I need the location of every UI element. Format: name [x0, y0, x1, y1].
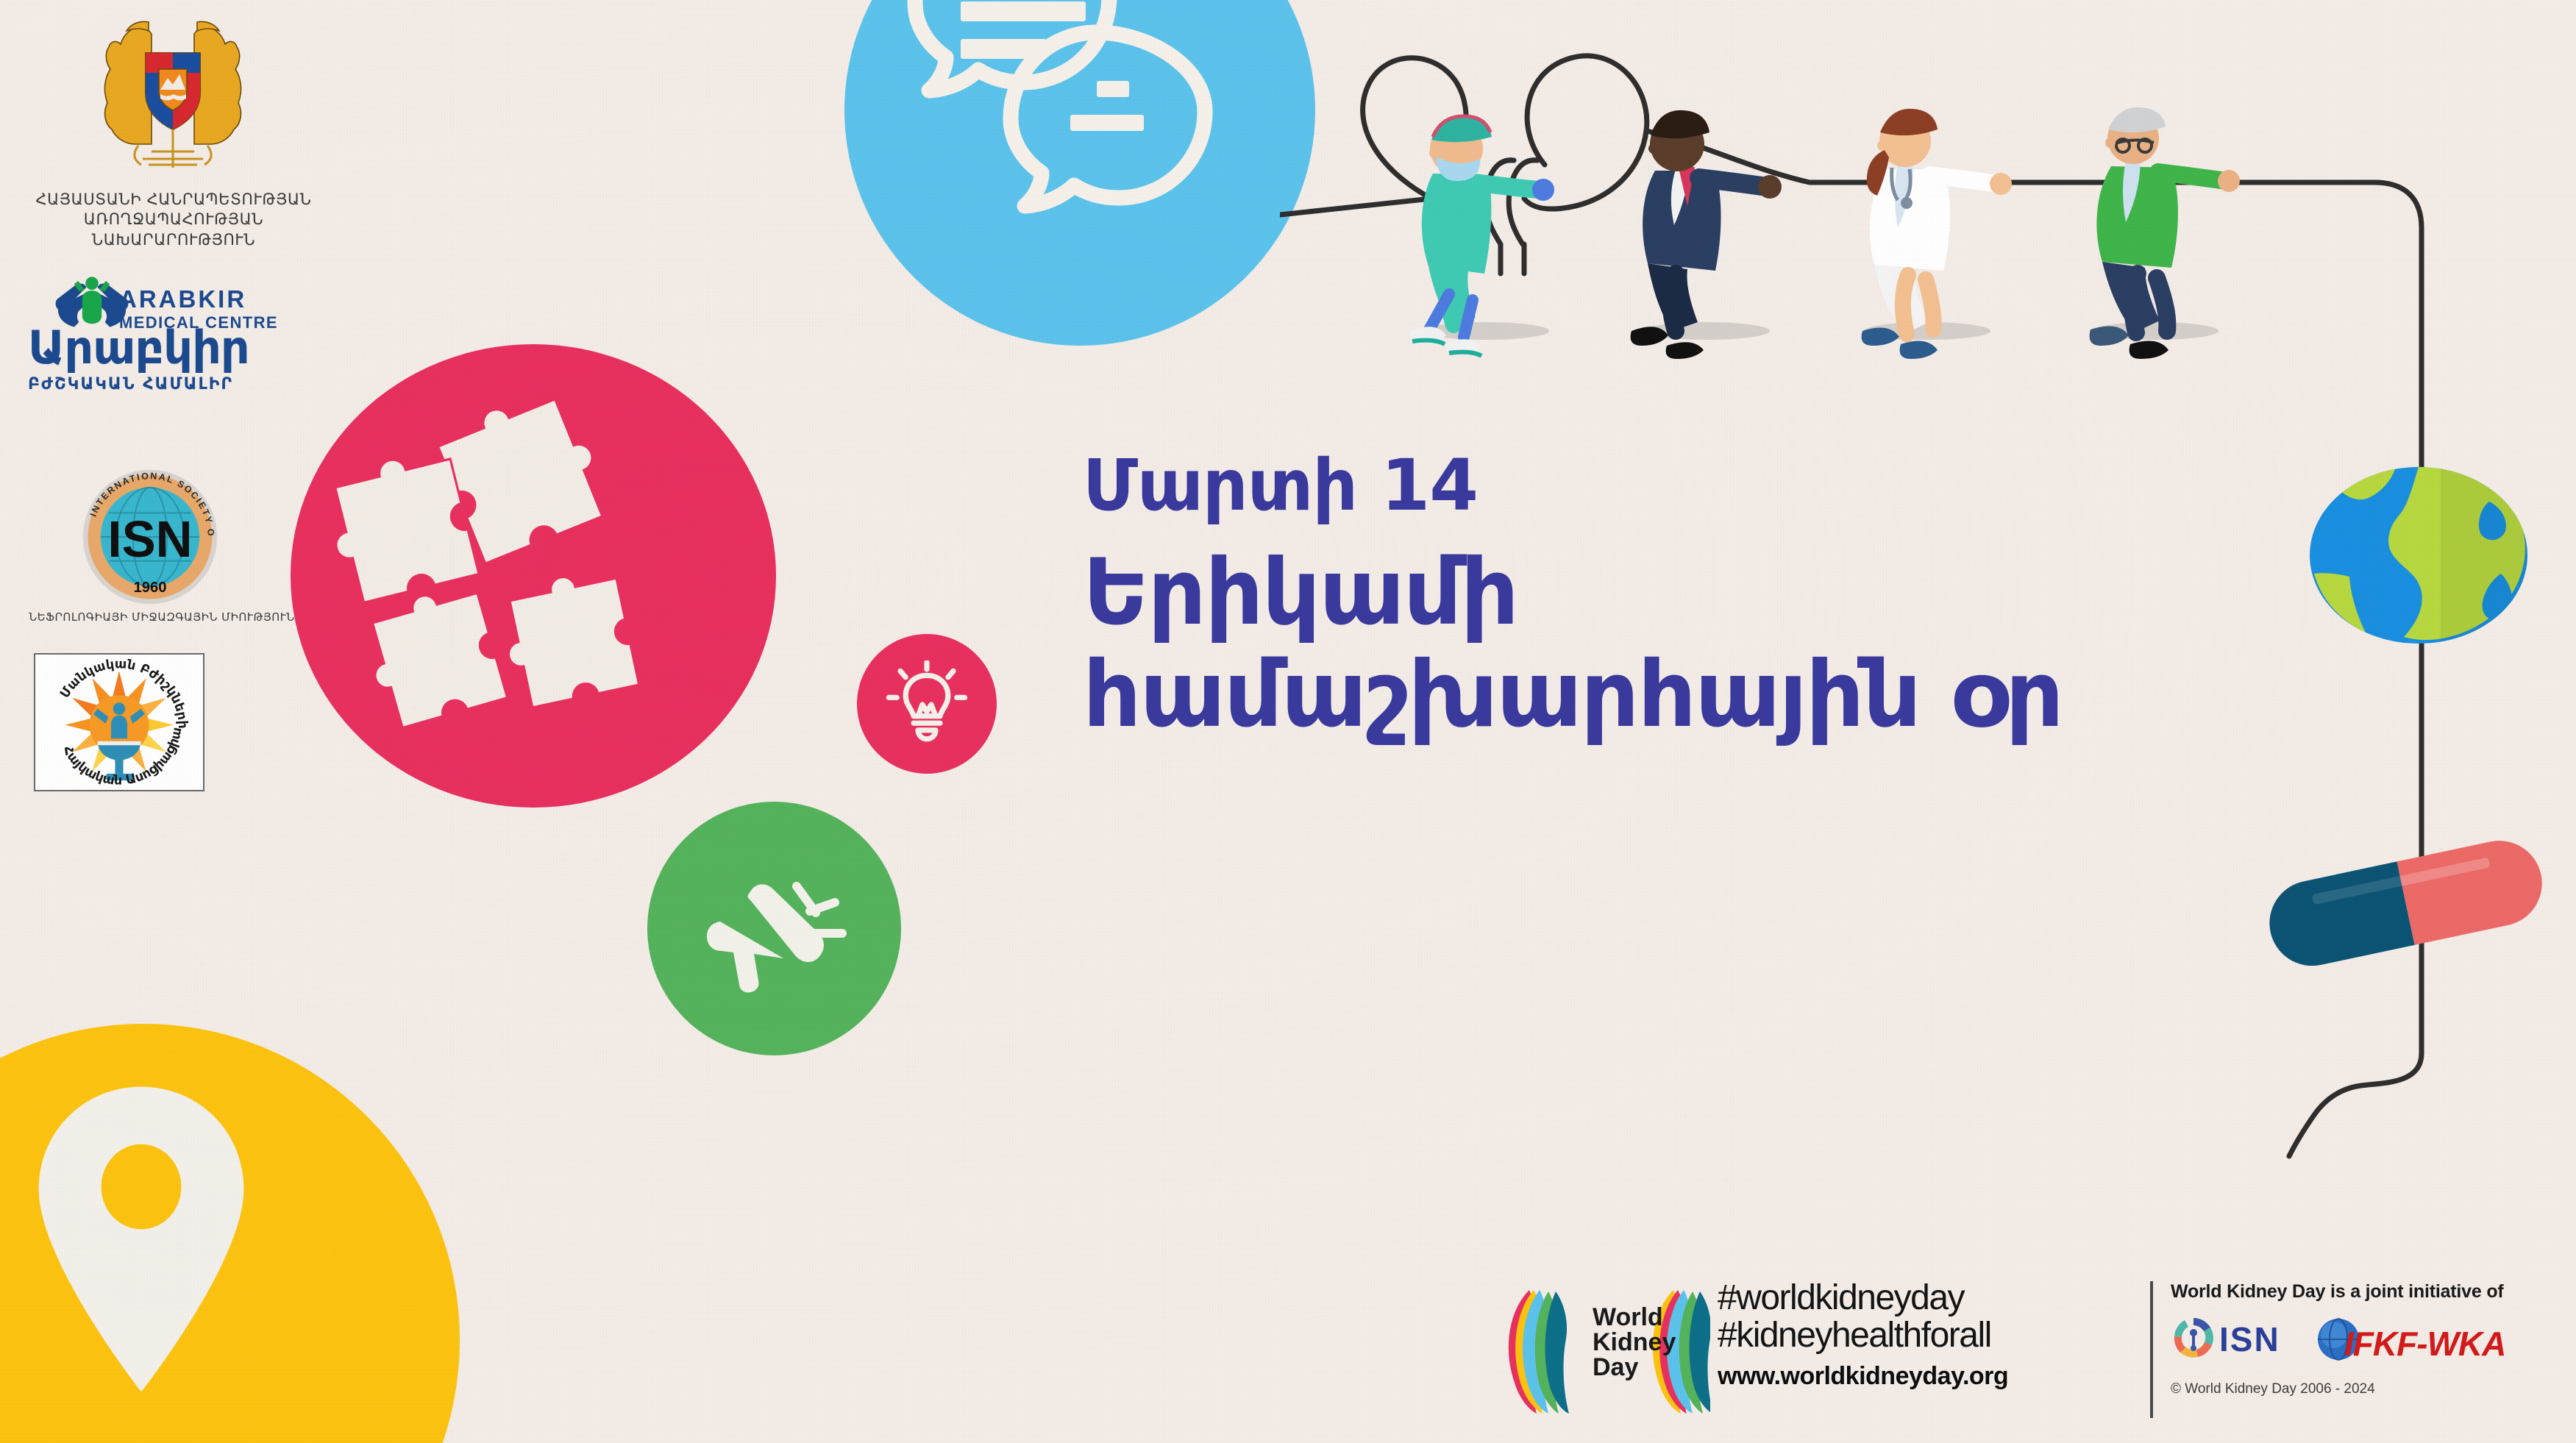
isn-caption-hy: ՆԵՖՐՈԼՈԳԻԱՅԻ ՄԻՋԱԶԳԱՅԻՆ ՄԻՈՒԹՅՈՒՆ [15, 610, 309, 624]
world-kidney-day-footer: World Kidney Day #worldkidneyday #kidney… [1497, 1271, 2563, 1431]
arabkir-logo: ARABKIR MEDICAL CENTRE Արաբկիր ԲԺՇԿԱԿԱՆ … [15, 278, 309, 410]
isn-logo: ISN INTERNATIONAL SOCIETY OF NEPHROLOGY … [15, 469, 309, 638]
lightbulb-icon [883, 660, 971, 749]
page-title: Մարտի 14 Երիկամի համաշխարհային օր [1083, 450, 2333, 746]
headline-date: Մարտի 14 [1083, 450, 2333, 522]
isn-globe-icon: ISN INTERNATIONAL SOCIETY OF NEPHROLOGY … [79, 466, 221, 608]
arabkir-name-en: ARABKIR [119, 285, 246, 313]
world-kidney-day-taglines: #worldkidneyday #kidneyhealthforall www.… [1718, 1280, 2008, 1391]
armenia-coat-of-arms-icon [81, 7, 265, 184]
isn-acronym: ISN [107, 510, 192, 568]
joint-initiative-block: World Kidney Day is a joint initiative o… [2171, 1281, 2568, 1303]
pediatric-sun-icon: Մանկական Բժիշկների Հայկական Ասոցիացիա [35, 655, 203, 790]
person-doctor [1862, 109, 2012, 359]
isn-partner-icon [2171, 1315, 2216, 1361]
wkd-word-line3: Day [1593, 1355, 1676, 1380]
megaphone-icon [702, 857, 850, 1004]
hashtag-kidneyhealthforall: #kidneyhealthforall [1718, 1317, 2008, 1355]
isn-year: 1960 [134, 580, 167, 596]
location-pin-icon [16, 1081, 266, 1397]
joint-initiative-label: World Kidney Day is a joint initiative o… [2171, 1281, 2568, 1303]
ministry-caption-line2: ԱՌՈՂՋԱՊԱՀՈՒԹՅԱՆ ՆԱԽԱՐԱՐՈՒԹՅՈՒՆ [12, 210, 335, 250]
headline-line3: համաշխարհային օր [1083, 645, 2333, 745]
globe-icon [2308, 463, 2529, 647]
world-kidney-day-wordmark: World Kidney Day [1593, 1305, 1676, 1380]
sponsor-logo-column: ՀԱՅԱՍՏԱՆԻ ՀԱՆՐԱՊԵՏՈՒԹՅԱՆ ԱՌՈՂՋԱՊԱՀՈՒԹՅԱՆ… [0, 0, 346, 853]
capsule-pill-icon [2267, 824, 2547, 993]
wkd-word-line2: Kidney [1593, 1330, 1676, 1355]
headline-line2: Երիկամի [1083, 541, 2333, 645]
hashtag-worldkidneyday: #worldkidneyday [1718, 1280, 2008, 1317]
person-surgeon [1410, 115, 1554, 356]
speech-bubbles-icon [889, 0, 1271, 324]
arabkir-subtitle-hy: ԲԺՇԿԱԿԱՆ ՀԱՄԱԼԻՐ [28, 375, 233, 393]
puzzle-pieces-icon [324, 386, 706, 769]
person-businessman [1631, 110, 1782, 359]
wkd-word-line1: World [1593, 1305, 1676, 1330]
arabkir-name-hy: Արաբկիր [28, 321, 249, 374]
pediatric-association-logo: Մանկական Բժիշկների Հայկական Ասոցիացիա [34, 653, 204, 791]
poster-canvas: ՀԱՅԱՍՏԱՆԻ ՀԱՆՐԱՊԵՏՈՒԹՅԱՆ ԱՌՈՂՋԱՊԱՀՈՒԹՅԱՆ… [0, 0, 2576, 1443]
person-senior [2090, 107, 2240, 359]
ministry-caption: ՀԱՅԱՍՏԱՆԻ ՀԱՆՐԱՊԵՏՈՒԹՅԱՆ ԱՌՈՂՋԱՊԱՀՈՒԹՅԱՆ… [12, 190, 335, 250]
copyright-text: © World Kidney Day 2006 - 2024 [2171, 1381, 2375, 1397]
ministry-caption-line1: ՀԱՅԱՍՏԱՆԻ ՀԱՆՐԱՊԵՏՈՒԹՅԱՆ [12, 190, 335, 210]
partner-isn-label: ISN [2219, 1319, 2280, 1359]
footer-divider [2150, 1281, 2153, 1418]
partner-ifkf-label: IFKF-WKA [2344, 1324, 2505, 1364]
tug-of-war-illustration [1309, 0, 2576, 368]
website-url[interactable]: www.worldkidneyday.org [1718, 1362, 2008, 1391]
